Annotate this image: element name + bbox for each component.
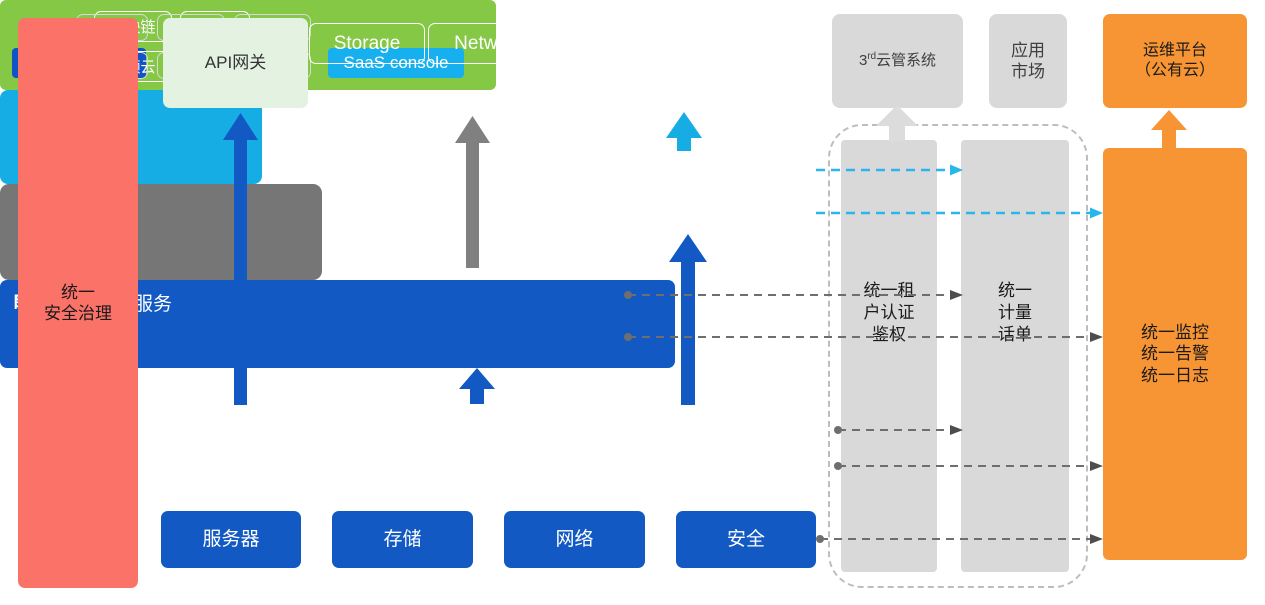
arrow-paas-to-console xyxy=(455,116,490,268)
arrow-ops-main-to-ops-top xyxy=(1151,110,1187,148)
arrowhead-paas-to-auth xyxy=(950,290,963,300)
dot-hardware-row xyxy=(816,535,824,543)
arrowhead-paas-to-ops xyxy=(1090,332,1103,342)
dot-paas-row2 xyxy=(624,333,632,341)
dot-infra-row2 xyxy=(834,462,842,470)
architecture-diagram: 统一租户认证鉴权 统一计量话单 统一安全治理 API网关 自助服务Console… xyxy=(0,0,1265,605)
arrowhead-infra-to-ops xyxy=(1090,461,1103,471)
dot-infra-row1 xyxy=(834,426,842,434)
arrowhead-saas-to-auth xyxy=(950,165,963,176)
dot-paas-row1 xyxy=(624,291,632,299)
arrow-saas-to-console xyxy=(666,112,702,151)
arrow-infra-to-saas xyxy=(669,234,707,405)
arrowhead-saas-to-ops xyxy=(1090,208,1103,219)
arrow-infra-to-paas xyxy=(459,368,495,404)
arrowhead-hardware-to-ops xyxy=(1090,534,1103,544)
arrow-shared-to-third-party xyxy=(876,105,918,142)
arrow-infra-to-api-gateway xyxy=(223,113,258,405)
arrowhead-infra-to-auth xyxy=(950,425,963,435)
arrow-layer xyxy=(0,0,1265,605)
